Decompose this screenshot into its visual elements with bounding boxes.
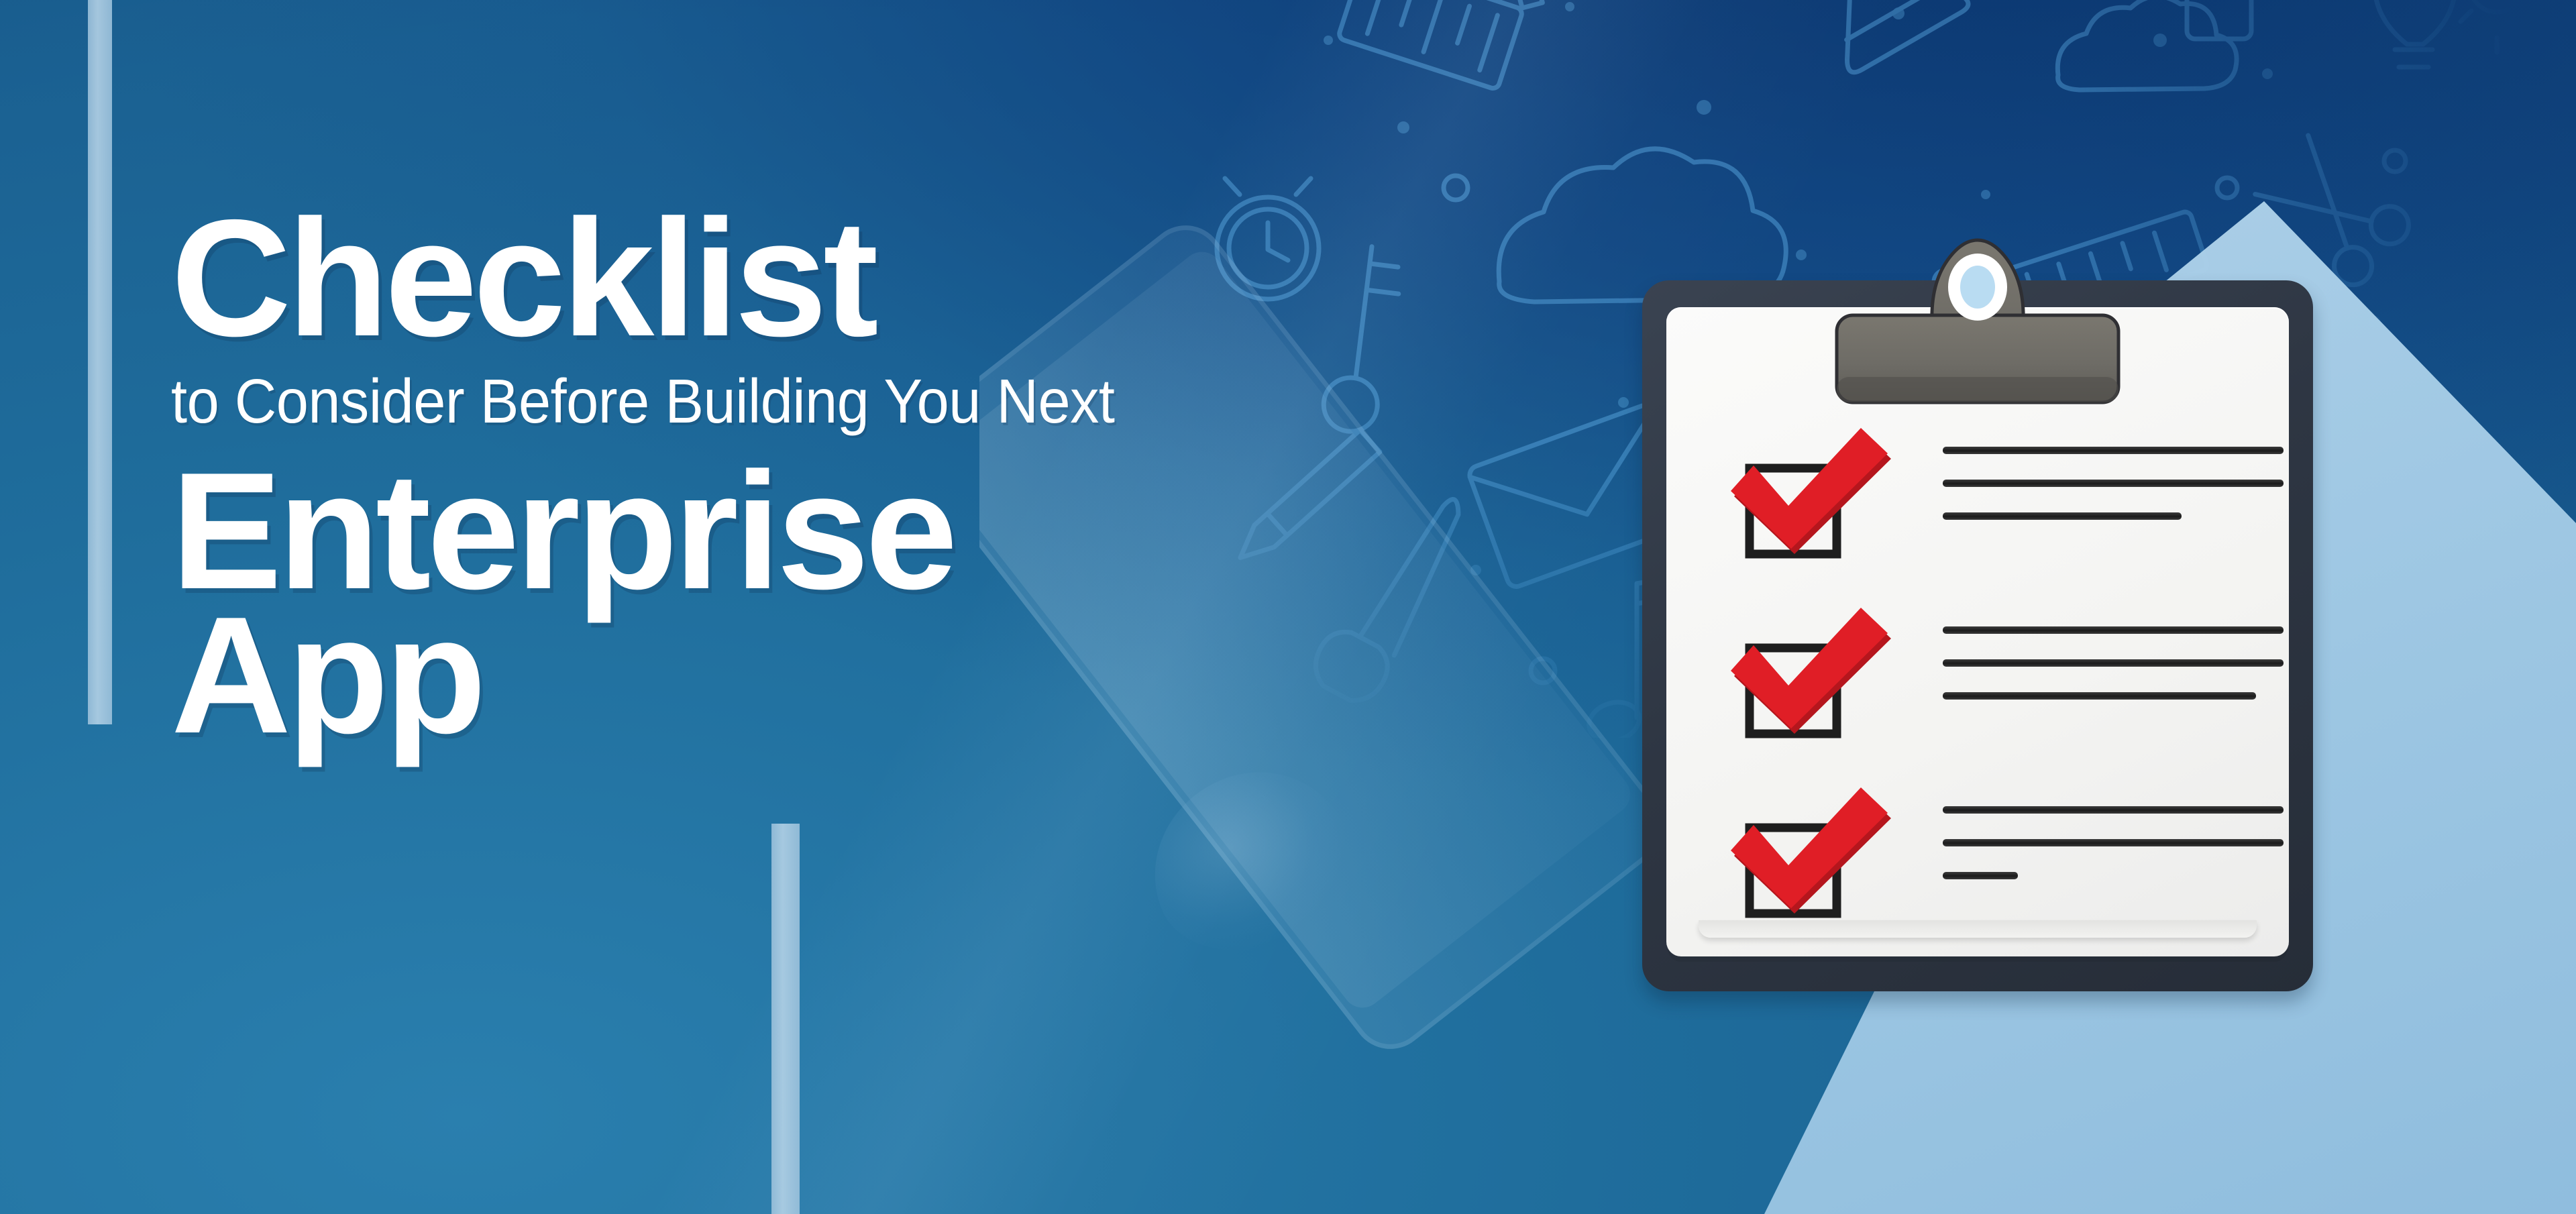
clipboard-illustration — [1642, 280, 2313, 991]
clipboard-paper — [1666, 307, 2289, 956]
rule-line-group — [1943, 626, 2284, 700]
accent-bar-left — [88, 0, 112, 724]
clipboard-clip — [1783, 201, 2172, 402]
rule-line — [1943, 626, 2284, 634]
red-checkmark-icon — [1727, 786, 1894, 927]
red-checkmark-icon — [1727, 606, 1894, 747]
rule-line — [1943, 447, 2284, 454]
rule-line-group — [1943, 806, 2284, 879]
accent-bar-middle — [771, 824, 800, 1214]
rule-line — [1943, 659, 2284, 667]
checklist-item — [1727, 412, 2284, 570]
rule-line — [1943, 839, 2284, 846]
checklist-banner: Checklist to Consider Before Building Yo… — [0, 0, 2576, 1214]
checklist-item — [1727, 771, 2284, 930]
rule-line-group — [1943, 447, 2284, 520]
rule-line — [1943, 692, 2256, 700]
headline-subline: to Consider Before Building You Next — [171, 370, 1356, 433]
rule-line — [1943, 512, 2182, 520]
paper-bottom-edge — [1699, 920, 2257, 938]
checklist-item — [1727, 592, 2284, 750]
headline-line-1: Checklist — [171, 201, 1446, 354]
clip-hole-center — [1960, 266, 1995, 309]
rule-line — [1943, 480, 2284, 487]
checklist-rows — [1727, 412, 2284, 928]
rule-line — [1943, 806, 2284, 814]
headline-block: Checklist to Consider Before Building Yo… — [171, 201, 1446, 758]
rule-line — [1943, 872, 2018, 879]
red-checkmark-icon — [1727, 427, 1894, 567]
